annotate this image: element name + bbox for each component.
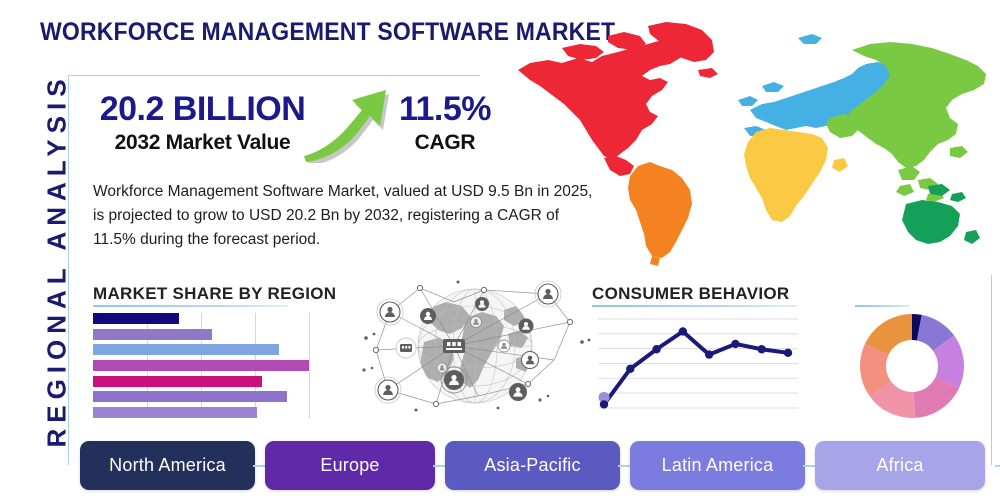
- region-connector-tail: [995, 465, 1000, 467]
- region-button-label: Europe: [320, 455, 379, 476]
- donut-chart: [858, 312, 966, 420]
- region-button-europe[interactable]: Europe: [265, 441, 435, 490]
- bar-chart-bar: [93, 313, 179, 324]
- region-button-label: Latin America: [662, 455, 774, 476]
- heading-consumer-behavior: CONSUMER BEHAVIOR: [592, 284, 789, 304]
- bar-chart-row: [93, 313, 348, 324]
- bar-chart-rows: [93, 313, 348, 418]
- bar-chart-bar: [93, 376, 262, 387]
- stat-cagr-number: 11.5%: [385, 92, 505, 128]
- bar-chart-bar: [93, 407, 257, 418]
- stat-market-value-number: 20.2 BILLION: [95, 92, 310, 128]
- bar-chart-bar: [93, 391, 287, 402]
- stat-market-value-label: 2032 Market Value: [95, 130, 310, 155]
- bar-chart-bar: [93, 360, 309, 371]
- map-region-africa: [744, 128, 848, 222]
- description-paragraph: Workforce Management Software Market, va…: [93, 180, 593, 253]
- bar-chart-bar: [93, 329, 212, 340]
- growth-arrow-icon: [300, 78, 400, 163]
- line-chart-marker: [626, 365, 634, 373]
- globe-network-icon: [358, 272, 593, 422]
- bar-chart-row: [93, 329, 348, 340]
- line-chart-marker: [679, 327, 687, 335]
- line-chart-marker: [731, 340, 739, 348]
- region-buttons-row: North AmericaEuropeAsia-PacificLatin Ame…: [80, 441, 985, 490]
- market-share-bar-chart: [93, 313, 348, 418]
- region-button-africa[interactable]: Africa: [815, 441, 985, 490]
- heading-rule-consumer-behavior: [592, 305, 797, 307]
- stat-cagr: 11.5% CAGR: [385, 92, 505, 155]
- stat-cagr-label: CAGR: [385, 130, 505, 155]
- bar-chart-row: [93, 344, 348, 355]
- line-chart-marker: [705, 350, 713, 358]
- bar-chart-row: [93, 360, 348, 371]
- region-button-label: Africa: [876, 455, 923, 476]
- infographic-canvas: WORKFORCE MANAGEMENT SOFTWARE MARKET REG…: [0, 0, 1000, 500]
- line-chart-marker: [784, 349, 792, 357]
- heading-rule-donut: [855, 305, 910, 307]
- side-label-regional-analysis: REGIONAL ANALYSIS: [42, 66, 73, 456]
- bar-chart-row: [93, 407, 348, 418]
- heading-market-share-by-region: MARKET SHARE BY REGION: [93, 284, 336, 304]
- line-chart-marker: [758, 345, 766, 353]
- stat-market-value: 20.2 BILLION 2032 Market Value: [95, 92, 310, 155]
- bar-chart-bar: [93, 344, 279, 355]
- region-button-label: Asia-Pacific: [484, 455, 580, 476]
- consumer-behavior-line-chart: [598, 313, 798, 416]
- region-button-latin-america[interactable]: Latin America: [630, 441, 805, 490]
- line-chart-marker: [652, 345, 660, 353]
- map-region-oceania: [902, 184, 980, 244]
- region-button-label: North America: [109, 455, 226, 476]
- map-region-north-america: [518, 22, 718, 178]
- heading-rule-market-share: [93, 305, 288, 307]
- region-button-asia-pacific[interactable]: Asia-Pacific: [445, 441, 620, 490]
- map-region-asia: [826, 42, 986, 202]
- bar-chart-row: [93, 376, 348, 387]
- map-region-south-america: [628, 162, 692, 266]
- line-chart-marker: [600, 400, 608, 408]
- bar-chart-row: [93, 391, 348, 402]
- region-button-north-america[interactable]: North America: [80, 441, 255, 490]
